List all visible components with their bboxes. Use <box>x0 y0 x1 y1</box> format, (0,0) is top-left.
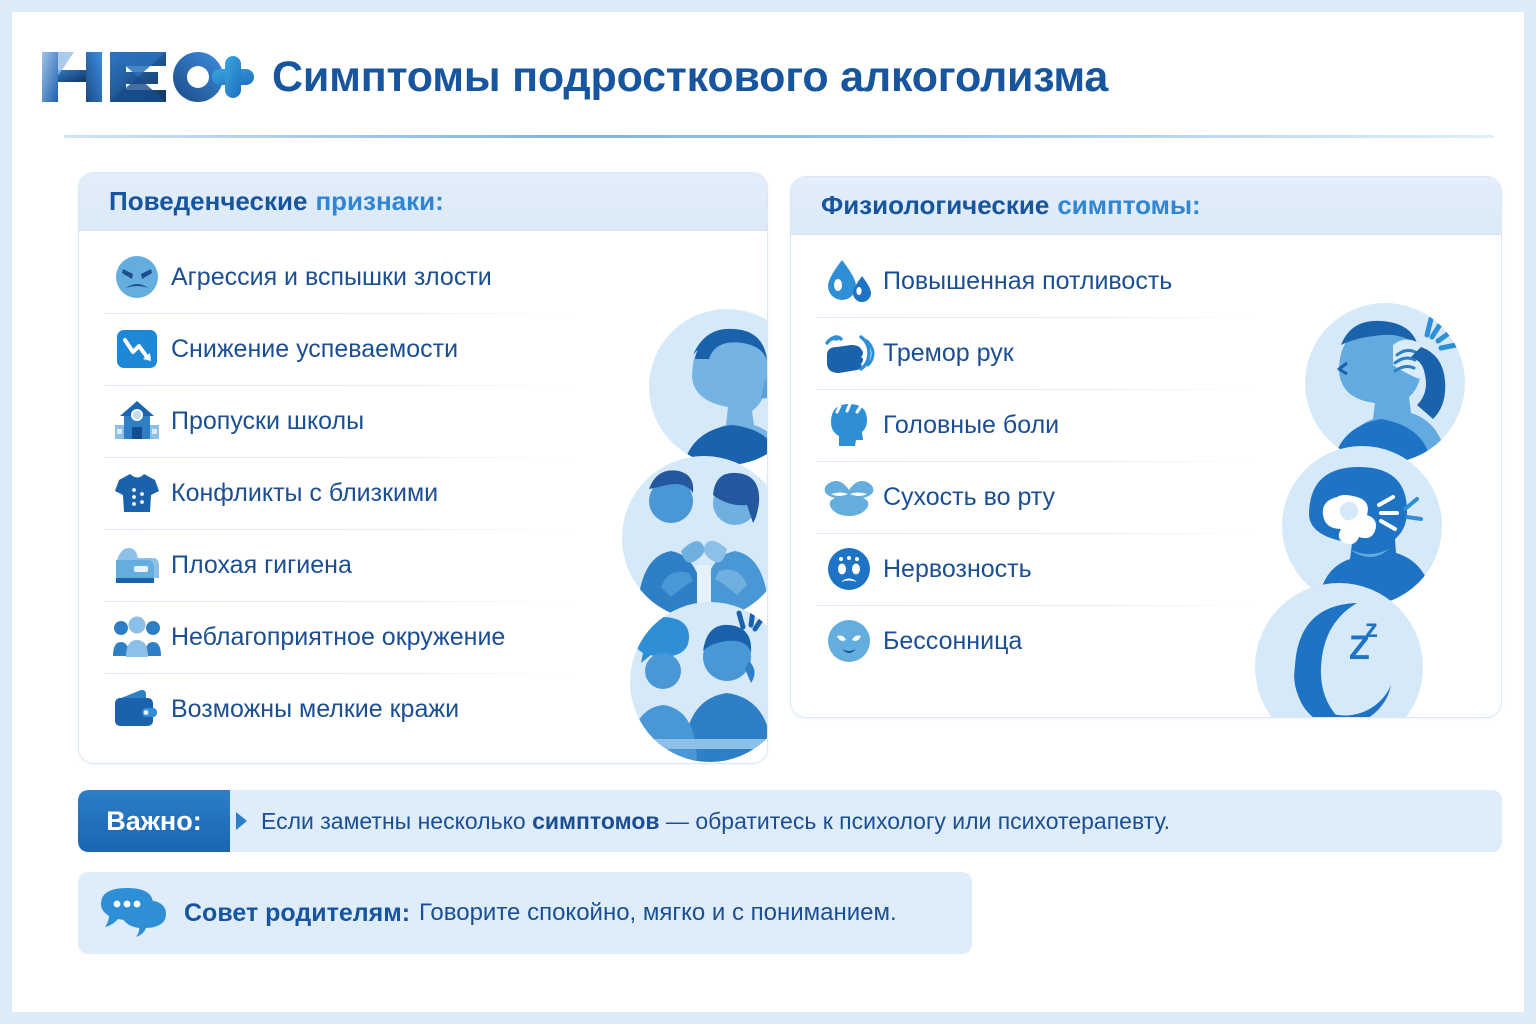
important-banner: Важно: Если заметны несколько симптомов … <box>78 790 1502 852</box>
group-people-icon <box>109 611 165 663</box>
list-item-label: Сухость во рту <box>883 483 1055 512</box>
list-item-label: Тремор рук <box>883 339 1014 368</box>
behavioral-heading-strong: Поведенческие <box>109 186 307 217</box>
list-item-label: Возможны мелкие кражи <box>171 695 459 724</box>
water-drops-icon <box>821 255 877 307</box>
angry-face-icon <box>109 251 165 303</box>
teen-portrait-illustration <box>647 307 768 467</box>
important-text-after: — обратитесь к психологу или психотерапе… <box>660 808 1171 834</box>
sleepless-face-icon <box>821 615 877 667</box>
physiological-heading-strong: Физиологические <box>821 190 1049 221</box>
behavioral-panel-body: Агрессия и вспышки злости Снижение успев… <box>79 231 767 763</box>
advice-text: Говорите спокойно, мягко и с пониманием. <box>419 899 897 927</box>
important-text: Если заметны несколько симптомов — обрат… <box>261 808 1170 835</box>
tshirt-icon <box>109 467 165 519</box>
list-item-label: Нервозность <box>883 555 1032 584</box>
important-badge: Важно: <box>78 790 230 852</box>
list-item-label: Конфликты с близкими <box>171 479 438 508</box>
infographic-page: Симптомы подросткового алкоголизма Повед… <box>12 12 1524 1012</box>
physiological-panel-body: Повышенная потливость Тремор рук <box>791 235 1501 717</box>
advice-title: Совет родителям: <box>184 899 410 928</box>
soap-bar-icon <box>109 539 165 591</box>
declining-chart-icon <box>109 323 165 375</box>
important-arrow-icon <box>236 812 247 830</box>
head-pain-icon <box>821 399 877 451</box>
list-item-label: Плохая гигиена <box>171 551 352 580</box>
physiological-symptoms-panel: Физиологические симптомы: Повышенная пот… <box>790 176 1502 718</box>
page-header: Симптомы подросткового алкоголизма <box>40 36 1500 118</box>
list-item-label: Головные боли <box>883 411 1059 440</box>
neo-plus-logo-icon <box>40 46 254 108</box>
list-item-label: Неблагоприятное окружение <box>171 623 505 652</box>
important-text-before: Если заметны несколько <box>261 808 532 834</box>
shaking-hand-icon <box>821 327 877 379</box>
physiological-heading-light: симптомы: <box>1057 190 1200 221</box>
header-divider <box>64 135 1494 138</box>
svg-text:z: z <box>1365 613 1378 643</box>
physiological-panel-heading: Физиологические симптомы: <box>791 177 1501 235</box>
moon-zzz-illustration: Z z <box>1253 581 1425 718</box>
list-item-label: Агрессия и вспышки злости <box>171 263 492 292</box>
behavioral-heading-light: признаки: <box>315 186 443 217</box>
group-conversation-illustration <box>627 599 768 764</box>
important-text-bold: симптомов <box>532 808 659 834</box>
wallet-icon <box>109 683 165 735</box>
page-title: Симптомы подросткового алкоголизма <box>272 53 1108 102</box>
worried-face-icon <box>821 543 877 595</box>
lips-icon <box>821 471 877 523</box>
school-building-icon <box>109 395 165 447</box>
arguing-couple-illustration <box>619 453 768 623</box>
list-item-label: Пропуски школы <box>171 407 364 436</box>
list-item-label: Бессонница <box>883 627 1022 656</box>
headache-person-illustration <box>1303 301 1467 465</box>
list-item[interactable]: Агрессия и вспышки злости <box>79 241 767 313</box>
speech-bubbles-icon <box>100 886 184 940</box>
list-item-label: Снижение успеваемости <box>171 335 458 364</box>
behavioral-panel-heading: Поведенческие признаки: <box>79 173 767 231</box>
advice-banner: Совет родителям: Говорите спокойно, мягк… <box>78 872 972 954</box>
behavioral-signs-panel: Поведенческие признаки: Агрессия и вспыш… <box>78 172 768 764</box>
list-item-label: Повышенная потливость <box>883 267 1172 296</box>
